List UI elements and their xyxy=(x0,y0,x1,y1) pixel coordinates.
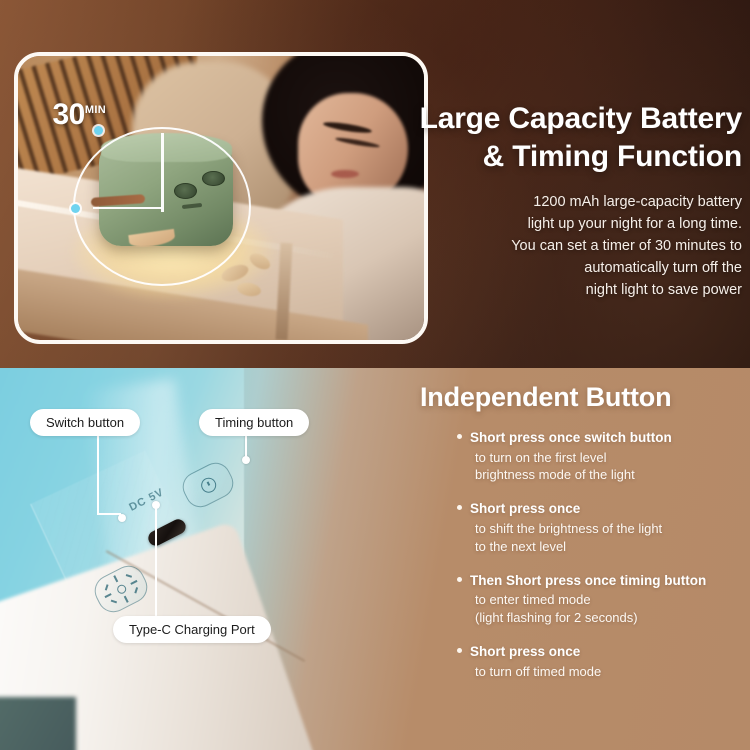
list-item: Short press once switch button to turn o… xyxy=(470,429,742,484)
sun-ray-icon xyxy=(130,580,137,585)
instruction-detail: to turn on the first level brightness mo… xyxy=(475,449,742,485)
bullet-dot-icon xyxy=(457,505,462,510)
instruction-detail-line: brightness mode of the light xyxy=(475,466,742,484)
timer-duration-unit: MIN xyxy=(85,104,106,116)
instruction-detail-line: to turn on the first level xyxy=(475,449,742,467)
callout-typec-port: Type-C Charging Port xyxy=(113,616,271,643)
instruction-detail: to turn off timed mode xyxy=(475,663,742,681)
top-description-line-5: night light to save power xyxy=(352,279,742,301)
instruction-detail-line: to enter timed mode xyxy=(475,591,742,609)
sun-ray-icon xyxy=(123,596,128,603)
instruction-title-text: Then Short press once timing button xyxy=(470,573,706,588)
timer-duration-value: 30 xyxy=(53,98,85,131)
top-description-line-2: light up your night for a long time. xyxy=(352,213,742,235)
top-text-block: Large Capacity Battery & Timing Function… xyxy=(352,100,742,301)
sun-ray-icon xyxy=(104,594,111,599)
instruction-detail: to shift the brightness of the light to … xyxy=(475,520,742,556)
top-headline-line-2: & Timing Function xyxy=(483,140,742,173)
instruction-title: Short press once switch button xyxy=(470,429,742,447)
callout-switch-button: Switch button xyxy=(30,409,140,436)
bottom-text-block: Independent Button Short press once swit… xyxy=(412,382,742,697)
list-item: Short press once to shift the brightness… xyxy=(470,500,742,555)
bottom-headline: Independent Button xyxy=(420,382,742,413)
instruction-detail-line: (light flashing for 2 seconds) xyxy=(475,609,742,627)
top-headline-line-1: Large Capacity Battery xyxy=(420,102,742,135)
top-description: 1200 mAh large-capacity battery light up… xyxy=(352,191,742,301)
instruction-detail-line: to the next level xyxy=(475,538,742,556)
sun-ray-icon xyxy=(104,585,108,591)
bullet-dot-icon xyxy=(457,434,462,439)
product-shadow-corner xyxy=(0,697,76,750)
instruction-detail: to enter timed mode (light flashing for … xyxy=(475,591,742,627)
instruction-list: Short press once switch button to turn o… xyxy=(470,429,742,681)
instruction-title: Short press once xyxy=(470,643,742,661)
bullet-dot-icon xyxy=(457,648,462,653)
callout-anchor-dot xyxy=(118,514,126,522)
callout-line-typec xyxy=(155,506,157,618)
instruction-title: Then Short press once timing button xyxy=(470,572,742,590)
top-description-line-1: 1200 mAh large-capacity battery xyxy=(352,191,742,213)
sun-ray-icon xyxy=(133,588,137,594)
instruction-detail-line: to turn off timed mode xyxy=(475,663,742,681)
clock-face-icon xyxy=(198,475,218,495)
top-headline: Large Capacity Battery & Timing Function xyxy=(352,100,742,177)
sun-core-icon xyxy=(114,583,126,595)
top-description-line-4: automatically turn off the xyxy=(352,257,742,279)
top-feature-panel: 30MIN Large Capacity Battery & Timing Fu… xyxy=(0,0,750,368)
sun-ray-icon xyxy=(110,600,116,604)
instruction-detail-line: to shift the brightness of the light xyxy=(475,520,742,538)
instruction-title: Short press once xyxy=(470,500,742,518)
bullet-dot-icon xyxy=(457,577,462,582)
instruction-title-text: Short press once xyxy=(470,501,580,516)
callout-timing-button: Timing button xyxy=(199,409,309,436)
timer-hand-vertical-icon xyxy=(161,133,163,213)
list-item: Short press once to turn off timed mode xyxy=(470,643,742,680)
timer-duration-badge: 30MIN xyxy=(53,100,106,130)
timer-hand-horizontal-icon xyxy=(93,207,162,209)
instruction-title-text: Short press once xyxy=(470,644,580,659)
top-description-line-3: You can set a timer of 30 minutes to xyxy=(352,235,742,257)
instruction-title-text: Short press once switch button xyxy=(470,430,672,445)
sun-ray-icon xyxy=(113,576,118,583)
sun-ray-icon xyxy=(125,575,131,579)
callout-line-switch-horizontal xyxy=(97,513,121,515)
marketing-infographic: 30MIN Large Capacity Battery & Timing Fu… xyxy=(0,0,750,750)
list-item: Then Short press once timing button to e… xyxy=(470,572,742,627)
timer-marker-dot-icon xyxy=(71,204,80,213)
